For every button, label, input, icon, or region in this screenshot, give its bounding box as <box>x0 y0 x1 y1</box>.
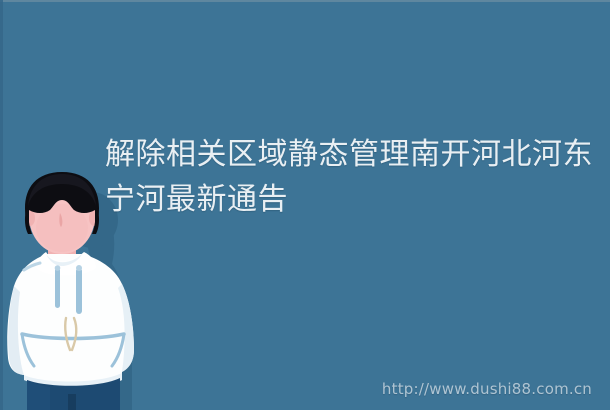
top-edge-highlight <box>0 0 610 2</box>
page-title: 解除相关区域静态管理南开河北河东宁河最新通告 <box>105 132 603 222</box>
site-watermark: http://www.dushi88.com.cn <box>382 380 592 398</box>
promo-card: 解除相关区域静态管理南开河北河东宁河最新通告 http://www.dushi8… <box>0 0 610 410</box>
